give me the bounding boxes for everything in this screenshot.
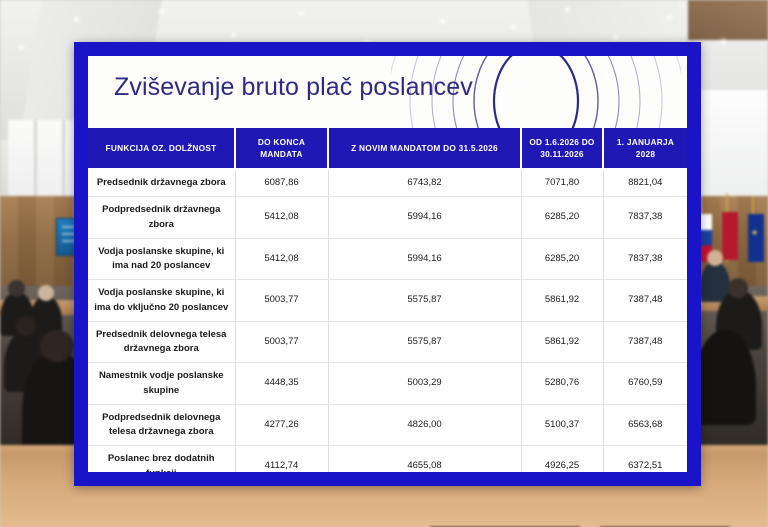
cell-role: Namestnik vodje poslanske skupine [88,363,235,405]
cell-z-novim-mandatom: 4655,08 [328,446,521,472]
cell-do-konca-mandata: 4448,35 [235,363,328,405]
table-row: Predsednik državnega zbora 6087,86 6743,… [88,169,687,197]
salary-table: FUNKCIJA OZ. DOLŽNOST DO KONCA MANDATA Z… [88,128,687,472]
cell-do-konca-mandata: 4277,26 [235,404,328,446]
cell-z-novim-mandatom: 4826,00 [328,404,521,446]
cell-role: Podpredsednik državnega zbora [88,197,235,239]
cell-od-1-6-2026: 6285,20 [521,238,603,280]
ceiling-light [20,46,23,49]
cell-do-konca-mandata: 5003,77 [235,280,328,322]
cell-do-konca-mandata: 5412,08 [235,197,328,239]
cell-jan-2028: 6760,59 [603,363,687,405]
slide-card: Zviševanje bruto plač poslancev FUNKCIJA… [88,56,687,472]
cell-jan-2028: 7387,48 [603,321,687,363]
cell-role: Predsednik delovnega telesa državnega zb… [88,321,235,363]
person-head [8,280,25,297]
table-row: Predsednik delovnega telesa državnega zb… [88,321,687,363]
cell-od-1-6-2026: 5100,37 [521,404,603,446]
ceiling-light [566,8,569,11]
ceiling-light [75,18,78,21]
column-header-mid-2026[interactable]: OD 1.6.2026 DO 30.11.2026 [521,128,603,169]
flag-eu [748,214,764,262]
ceiling-light [512,26,515,29]
cell-z-novim-mandatom: 5994,16 [328,238,521,280]
person-head [16,316,36,336]
cell-do-konca-mandata: 4112,74 [235,446,328,472]
cell-jan-2028: 6372,51 [603,446,687,472]
cell-od-1-6-2026: 5861,92 [521,280,603,322]
table-row: Podpredsednik delovnega telesa državnega… [88,404,687,446]
cell-role: Predsednik državnega zbora [88,169,235,197]
table-row: Vodja poslanske skupine, ki ima nad 20 p… [88,238,687,280]
slide-frame: Zviševanje bruto plač poslancev FUNKCIJA… [74,42,701,486]
screenshot-root: Zviševanje bruto plač poslancev FUNKCIJA… [0,0,768,527]
page-title: Zviševanje bruto plač poslancev [114,73,473,102]
cell-od-1-6-2026: 5280,76 [521,363,603,405]
cell-z-novim-mandatom: 5575,87 [328,280,521,322]
table-row: Vodja poslanske skupine, ki ima do vklju… [88,280,687,322]
cell-do-konca-mandata: 5412,08 [235,238,328,280]
ceiling-light [668,16,671,19]
table-header-row: FUNKCIJA OZ. DOLŽNOST DO KONCA MANDATA Z… [88,128,687,169]
cell-role: Poslanec brez dodatnih funkcij [88,446,235,472]
cell-jan-2028: 8821,04 [603,169,687,197]
cell-z-novim-mandatom: 5575,87 [328,321,521,363]
cell-z-novim-mandatom: 5003,29 [328,363,521,405]
cell-jan-2028: 7387,48 [603,280,687,322]
column-header-jan-2028[interactable]: 1. JANUARJA 2028 [603,128,687,169]
person-head [707,250,723,266]
cell-do-konca-mandata: 5003,77 [235,321,328,363]
person-head [38,285,54,301]
table-row: Podpredsednik državnega zbora 5412,08 59… [88,197,687,239]
table-row: Poslanec brez dodatnih funkcij 4112,74 4… [88,446,687,472]
ceiling-light [441,20,444,23]
column-header-function[interactable]: FUNKCIJA OZ. DOLŽNOST [88,128,235,169]
ceiling-light [722,40,725,43]
column-header-new-term[interactable]: Z NOVIM MANDATOM DO 31.5.2026 [328,128,521,169]
slide-title-band: Zviševanje bruto plač poslancev [88,56,687,128]
cell-z-novim-mandatom: 6743,82 [328,169,521,197]
flag-red [722,212,738,260]
cell-od-1-6-2026: 5861,92 [521,321,603,363]
cell-jan-2028: 6563,68 [603,404,687,446]
ceiling-corner-wood [688,0,768,40]
person-head [728,278,748,298]
cell-jan-2028: 7837,38 [603,238,687,280]
column-header-current[interactable]: DO KONCA MANDATA [235,128,328,169]
cell-role: Podpredsednik delovnega telesa državnega… [88,404,235,446]
table-row: Namestnik vodje poslanske skupine 4448,3… [88,363,687,405]
cell-z-novim-mandatom: 5994,16 [328,197,521,239]
cell-do-konca-mandata: 6087,86 [235,169,328,197]
cell-role: Vodja poslanske skupine, ki ima nad 20 p… [88,238,235,280]
cell-od-1-6-2026: 6285,20 [521,197,603,239]
ceiling-light [160,10,163,13]
ceiling-light [232,34,235,37]
cell-od-1-6-2026: 4926,25 [521,446,603,472]
cell-role: Vodja poslanske skupine, ki ima do vklju… [88,280,235,322]
person-head [40,330,74,362]
cell-jan-2028: 7837,38 [603,197,687,239]
cell-od-1-6-2026: 7071,80 [521,169,603,197]
ceiling-light [614,36,617,39]
ceiling-light [300,12,303,15]
